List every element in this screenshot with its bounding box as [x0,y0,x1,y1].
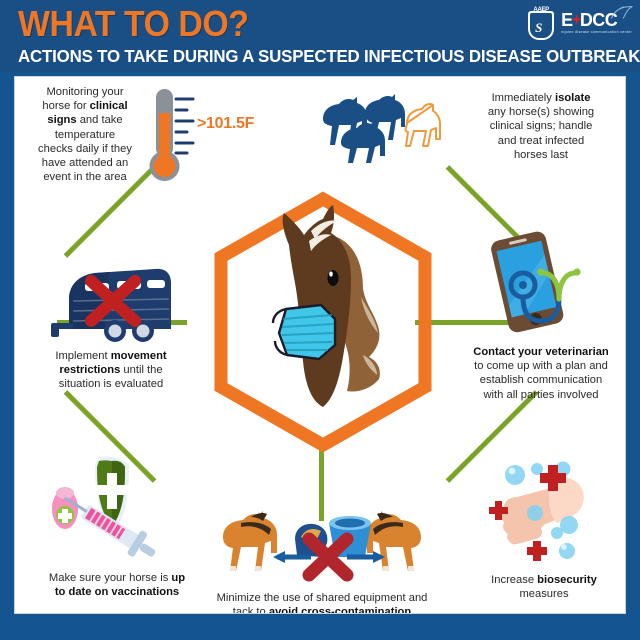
logo-group: AAEP S E + DCC equine disease communicat… [528,5,632,41]
horse-trailer-icon [43,263,177,349]
text-line: horses last [467,148,615,162]
text-line: and treat infected [467,134,615,148]
text-line: signs and take [29,113,141,127]
infographic-poster: WHAT TO DO? ACTIONS TO TAKE DURING A SUS… [0,0,640,640]
poster-body: Monitoring your horse for clinical signs… [14,76,626,614]
text-line: clinical signs; handle [467,119,615,133]
text-line: situation is evaluated [27,377,195,391]
item-isolate-horses-text: Immediately isolate any horse(s) showing… [467,91,615,162]
text-line: Monitoring your [29,85,141,99]
aaep-monogram: S [535,20,542,36]
edcc-tagline: equine disease communication center [561,30,632,35]
temperature-badge: >101.5F [197,115,254,133]
text-line: event in the area [29,170,141,184]
text-line: restrictions until the [27,363,195,377]
washing-hands-icon [485,455,611,567]
item-movement-restrictions-text: Implement movement restrictions until th… [27,349,195,392]
text-line: Implement movement [27,349,195,363]
face-mask-icon [273,305,335,359]
edcc-horse-head-icon [609,5,635,21]
text-line: Increase biosecurity [477,573,611,587]
poster-header: WHAT TO DO? ACTIONS TO TAKE DURING A SUS… [0,0,640,72]
item-temperature-monitoring-text: Monitoring your horse for clinical signs… [29,85,141,184]
item-shared-equipment-text: Minimize the use of shared equipment and… [177,591,467,614]
text-line: Contact your veterinarian [453,345,626,359]
edcc-logo: E + DCC equine disease communication cen… [561,6,632,40]
text-line: establish communication [453,373,626,387]
horse-eye-glint [329,271,333,276]
text-line: Minimize the use of shared equipment and [177,591,467,605]
text-line: any horse(s) showing [467,105,615,119]
text-line: Make sure your horse is up [19,571,215,585]
page-title: WHAT TO DO? [18,6,248,42]
page-subtitle: ACTIONS TO TAKE DURING A SUSPECTED INFEC… [18,46,640,66]
thermometer-icon [143,87,203,189]
text-line: checks daily if they [29,142,141,156]
text-line: horse for clinical [29,99,141,113]
text-line: with all parties involved [453,388,626,402]
aaep-logo: AAEP S [528,7,554,40]
text-line: temperature [29,128,141,142]
item-contact-veterinarian-text: Contact your veterinarian to come up wit… [453,345,626,402]
smartphone-stethoscope-icon [483,229,603,343]
text-line: to come up with a plan and [453,359,626,373]
text-line: Immediately isolate [467,91,615,105]
text-line: measures [477,587,611,601]
text-line: have attended an [29,156,141,170]
text-line: tack to avoid cross-contamination [177,605,467,614]
aaep-logo-text: AAEP [528,7,554,13]
horse-left [223,511,277,571]
horse-group-icon [313,93,433,165]
horse-eye [328,270,339,286]
item-biosecurity-text: Increase biosecurity measures [477,573,611,601]
shared-equipment-icon [211,509,433,587]
horse-right [367,511,421,571]
vaccination-shield-syringe-icon [37,453,187,563]
center-emblem [211,193,436,451]
